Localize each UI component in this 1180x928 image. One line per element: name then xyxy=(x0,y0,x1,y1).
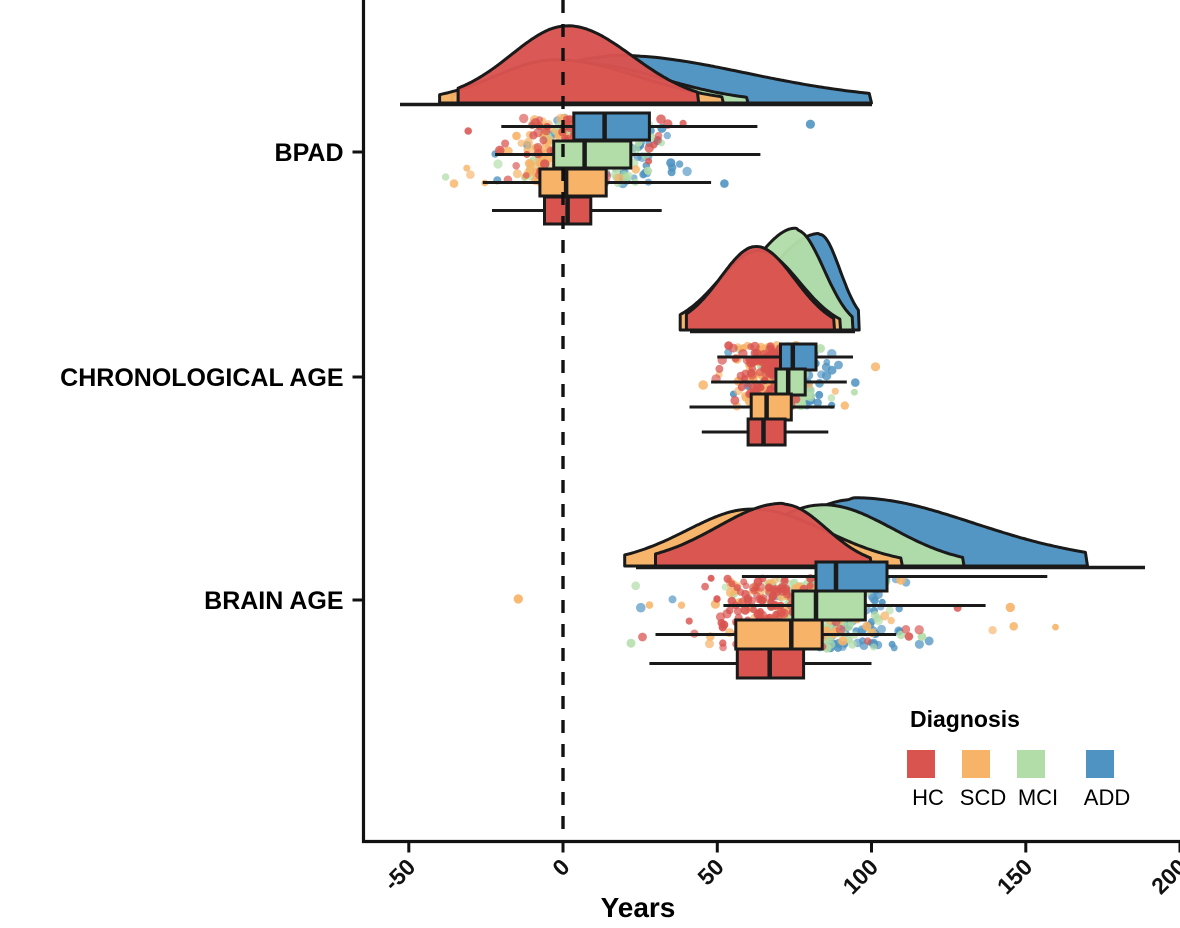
jitter-point xyxy=(512,132,521,141)
x-tick-label-150: 150 xyxy=(992,854,1038,900)
jitter-point xyxy=(656,114,666,124)
jitter-point xyxy=(539,136,547,144)
jitter-point xyxy=(686,618,693,625)
jitter-point xyxy=(644,167,652,175)
jitter-point xyxy=(464,127,472,135)
jitter-point xyxy=(734,584,741,591)
legend-label-mci: MCI xyxy=(1018,785,1058,810)
jitter-point xyxy=(747,369,756,378)
jitter-point xyxy=(514,594,523,603)
jitter-point xyxy=(730,396,739,405)
box-brain-age-add xyxy=(816,562,887,591)
jitter-point xyxy=(828,394,836,402)
jitter-point xyxy=(815,391,823,399)
jitter-point xyxy=(719,639,726,646)
x-axis-title: Years xyxy=(601,892,676,923)
jitter-point xyxy=(512,162,520,170)
jitter-point xyxy=(782,587,791,596)
box-bpad-scd xyxy=(540,169,606,196)
jitter-point xyxy=(832,388,839,395)
jitter-point xyxy=(834,361,843,370)
legend-label-scd: SCD xyxy=(960,785,1006,810)
y-axis-label-chronological-age: CHRONOLOGICAL AGE xyxy=(60,364,343,392)
jitter-point xyxy=(669,595,677,603)
jitter-point xyxy=(749,583,758,592)
jitter-point xyxy=(1052,624,1059,631)
jitter-point xyxy=(534,143,543,152)
jitter-point xyxy=(763,366,770,373)
jitter-point xyxy=(889,641,896,648)
jitter-point xyxy=(915,625,924,634)
jitter-point xyxy=(664,132,671,139)
jitter-point xyxy=(841,401,849,409)
jitter-point xyxy=(682,167,691,176)
jitter-point xyxy=(749,358,758,367)
x-tick-label-100: 100 xyxy=(838,854,884,900)
legend-swatch-scd[interactable] xyxy=(962,750,990,778)
jitter-point xyxy=(1009,622,1018,631)
jitter-point xyxy=(905,632,914,641)
jitter-point xyxy=(678,602,685,609)
box-bpad-mci xyxy=(554,141,631,168)
box-bpad-add xyxy=(574,113,650,140)
jitter-point xyxy=(525,159,534,168)
y-axis-label-bpad: BPAD xyxy=(275,139,344,167)
raincloud-figure: BPADCHRONOLOGICAL AGEBRAIN AGE-500501001… xyxy=(0,0,1180,928)
jitter-point xyxy=(828,641,836,649)
jitter-point xyxy=(720,179,729,188)
jitter-point xyxy=(757,384,765,392)
jitter-point xyxy=(701,583,709,591)
jitter-point xyxy=(877,625,886,634)
jitter-point xyxy=(632,165,640,173)
jitter-point xyxy=(822,371,831,380)
x-tick-label--50: -50 xyxy=(378,854,420,896)
jitter-point xyxy=(777,608,786,617)
jitter-point xyxy=(636,603,646,613)
legend-swatch-hc[interactable] xyxy=(907,750,935,778)
jitter-point xyxy=(758,597,766,605)
jitter-point xyxy=(729,344,738,353)
jitter-point xyxy=(698,380,708,390)
jitter-point xyxy=(668,168,676,176)
jitter-point xyxy=(988,626,996,634)
jitter-point xyxy=(888,617,895,624)
box-chronological-age-hc xyxy=(748,419,785,445)
jitter-point xyxy=(646,601,654,609)
jitter-point xyxy=(713,595,720,602)
jitter-point xyxy=(627,639,636,648)
jitter-point xyxy=(654,136,662,144)
legend-swatch-mci[interactable] xyxy=(1017,750,1045,778)
legend: DiagnosisHCSCDMCIADD xyxy=(907,706,1130,810)
jitter-point xyxy=(529,131,537,139)
jitter-point xyxy=(871,362,880,371)
jitter-point xyxy=(523,172,530,179)
jitter-point xyxy=(1006,603,1015,612)
jitter-point xyxy=(715,365,723,373)
jitter-point xyxy=(676,160,683,167)
x-tick-label-0: 0 xyxy=(547,854,574,881)
jitter-point xyxy=(862,622,871,631)
jitter-point xyxy=(513,169,522,178)
jitter-point xyxy=(915,640,924,649)
jitter-point xyxy=(708,575,715,582)
jitter-point xyxy=(645,158,652,165)
y-axis-label-brain-age: BRAIN AGE xyxy=(204,587,343,615)
jitter-point xyxy=(722,609,731,618)
jitter-point xyxy=(442,173,449,180)
axis-labels-layer: BPADCHRONOLOGICAL AGEBRAIN AGE-500501001… xyxy=(60,139,1180,923)
jitter-point xyxy=(838,636,847,645)
legend-title: Diagnosis xyxy=(910,706,1020,732)
jitter-point xyxy=(851,389,858,396)
jitter-point xyxy=(518,140,525,147)
jitter-point xyxy=(519,114,528,123)
jitter-point xyxy=(768,372,775,379)
jitter-point xyxy=(747,343,754,350)
density-clouds-layer xyxy=(400,26,1145,568)
jitter-point xyxy=(755,608,765,618)
legend-label-add: ADD xyxy=(1084,785,1130,810)
jitter-point xyxy=(740,578,747,585)
jitter-point xyxy=(638,633,647,642)
jitter-point xyxy=(822,363,831,372)
box-brain-age-mci xyxy=(793,591,866,620)
jitter-point xyxy=(864,637,871,644)
jitter-point xyxy=(450,179,459,188)
box-chronological-age-add xyxy=(781,344,817,370)
jitter-point xyxy=(769,593,777,601)
jitter-point xyxy=(631,581,640,590)
jitter-point xyxy=(768,346,777,355)
jitter-point xyxy=(540,159,549,168)
box-brain-age-scd xyxy=(736,620,822,649)
jitter-point xyxy=(744,594,753,603)
jitter-point xyxy=(719,623,727,631)
jitter-point xyxy=(463,165,470,172)
jitter-point xyxy=(806,120,815,129)
legend-label-hc: HC xyxy=(912,785,944,810)
jitter-point xyxy=(493,159,502,168)
legend-swatch-add[interactable] xyxy=(1086,750,1114,778)
jitter-point xyxy=(836,625,846,635)
jitter-point xyxy=(645,143,654,152)
box-chronological-age-scd xyxy=(751,394,791,420)
x-tick-label-50: 50 xyxy=(692,854,728,890)
jitter-point xyxy=(765,583,773,591)
box-chronological-age-mci xyxy=(776,369,805,395)
jitter-point xyxy=(851,378,860,387)
jitter-point xyxy=(871,597,879,605)
jitter-point xyxy=(501,140,509,148)
jitter-point xyxy=(466,170,475,179)
jitter-point xyxy=(870,643,877,650)
x-tick-label-200: 200 xyxy=(1146,854,1180,900)
plot-canvas: BPADCHRONOLOGICAL AGEBRAIN AGE-500501001… xyxy=(0,0,1180,928)
